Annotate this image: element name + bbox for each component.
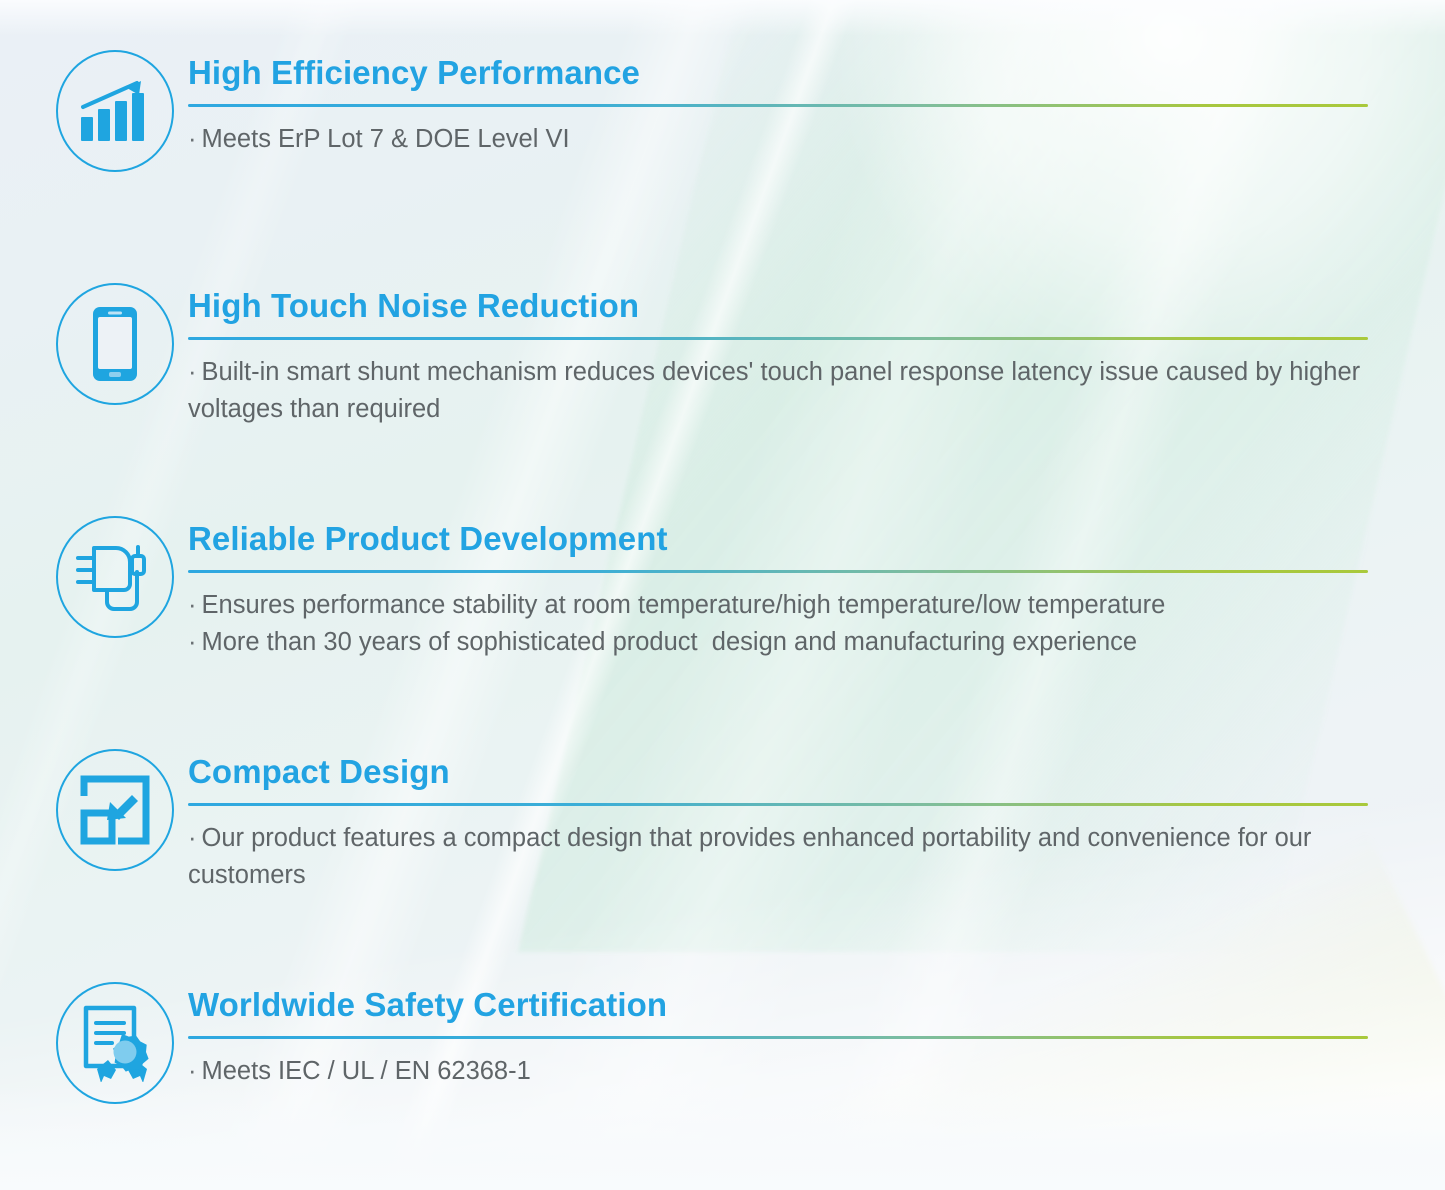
bullet-text: Built-in smart shunt mechanism reduces d… (188, 358, 1367, 423)
growth-bar-chart-icon (56, 50, 174, 172)
feature-bullets: ·Meets IEC / UL / EN 62368-1 (188, 1053, 1368, 1090)
feature-divider (188, 337, 1368, 340)
feature-divider (188, 1036, 1368, 1039)
feature-item: Reliable Product Development ·Ensures pe… (54, 514, 1368, 662)
feature-bullet: ·Our product features a compact design t… (188, 820, 1368, 895)
power-adapter-icon (56, 516, 174, 638)
bullet-text: More than 30 years of sophisticated prod… (202, 628, 1138, 656)
feature-title: High Efficiency Performance (188, 54, 1368, 92)
feature-bullet: ·Meets IEC / UL / EN 62368-1 (188, 1053, 1368, 1090)
feature-body: Compact Design ·Our product features a c… (176, 747, 1368, 895)
feature-divider (188, 570, 1368, 573)
bullet-marker: · (188, 591, 197, 619)
feature-icon-badge (54, 281, 176, 405)
certificate-seal-icon (56, 982, 174, 1104)
bullet-marker: · (188, 628, 197, 656)
feature-title: Compact Design (188, 753, 1368, 791)
feature-icon-badge (54, 48, 176, 172)
feature-bullets: ·Meets ErP Lot 7 & DOE Level VI (188, 121, 1368, 158)
smartphone-icon (56, 283, 174, 405)
feature-title: Worldwide Safety Certification (188, 986, 1368, 1024)
feature-bullet: ·More than 30 years of sophisticated pro… (188, 624, 1368, 661)
compact-resize-icon (56, 749, 174, 871)
bullet-marker: · (188, 125, 197, 153)
feature-bullet: ·Ensures performance stability at room t… (188, 587, 1368, 624)
bullet-marker: · (188, 824, 197, 852)
feature-item: Worldwide Safety Certification ·Meets IE… (54, 980, 1368, 1104)
feature-title: Reliable Product Development (188, 520, 1368, 558)
feature-item: Compact Design ·Our product features a c… (54, 747, 1368, 895)
feature-bullets: ·Built-in smart shunt mechanism reduces … (188, 354, 1368, 429)
feature-body: Reliable Product Development ·Ensures pe… (176, 514, 1368, 662)
feature-icon-badge (54, 747, 176, 871)
feature-title: High Touch Noise Reduction (188, 287, 1368, 325)
feature-bullets: ·Ensures performance stability at room t… (188, 587, 1368, 662)
bullet-marker: · (188, 358, 197, 386)
feature-divider (188, 104, 1368, 107)
feature-item: High Efficiency Performance ·Meets ErP L… (54, 48, 1368, 172)
bullet-marker: · (188, 1057, 197, 1085)
feature-list-page: High Efficiency Performance ·Meets ErP L… (0, 0, 1445, 1190)
bullet-text: Meets ErP Lot 7 & DOE Level VI (202, 125, 570, 153)
feature-item: High Touch Noise Reduction ·Built-in sma… (54, 281, 1368, 429)
bullet-text: Our product features a compact design th… (188, 824, 1319, 889)
feature-bullet: ·Meets ErP Lot 7 & DOE Level VI (188, 121, 1368, 158)
feature-bullet: ·Built-in smart shunt mechanism reduces … (188, 354, 1368, 429)
bullet-text: Meets IEC / UL / EN 62368-1 (202, 1057, 531, 1085)
bullet-text: Ensures performance stability at room te… (202, 591, 1166, 619)
feature-bullets: ·Our product features a compact design t… (188, 820, 1368, 895)
background-top-fade (0, 0, 1445, 36)
feature-icon-badge (54, 980, 176, 1104)
feature-divider (188, 803, 1368, 806)
feature-body: Worldwide Safety Certification ·Meets IE… (176, 980, 1368, 1090)
feature-icon-badge (54, 514, 176, 638)
feature-body: High Efficiency Performance ·Meets ErP L… (176, 48, 1368, 158)
feature-body: High Touch Noise Reduction ·Built-in sma… (176, 281, 1368, 429)
